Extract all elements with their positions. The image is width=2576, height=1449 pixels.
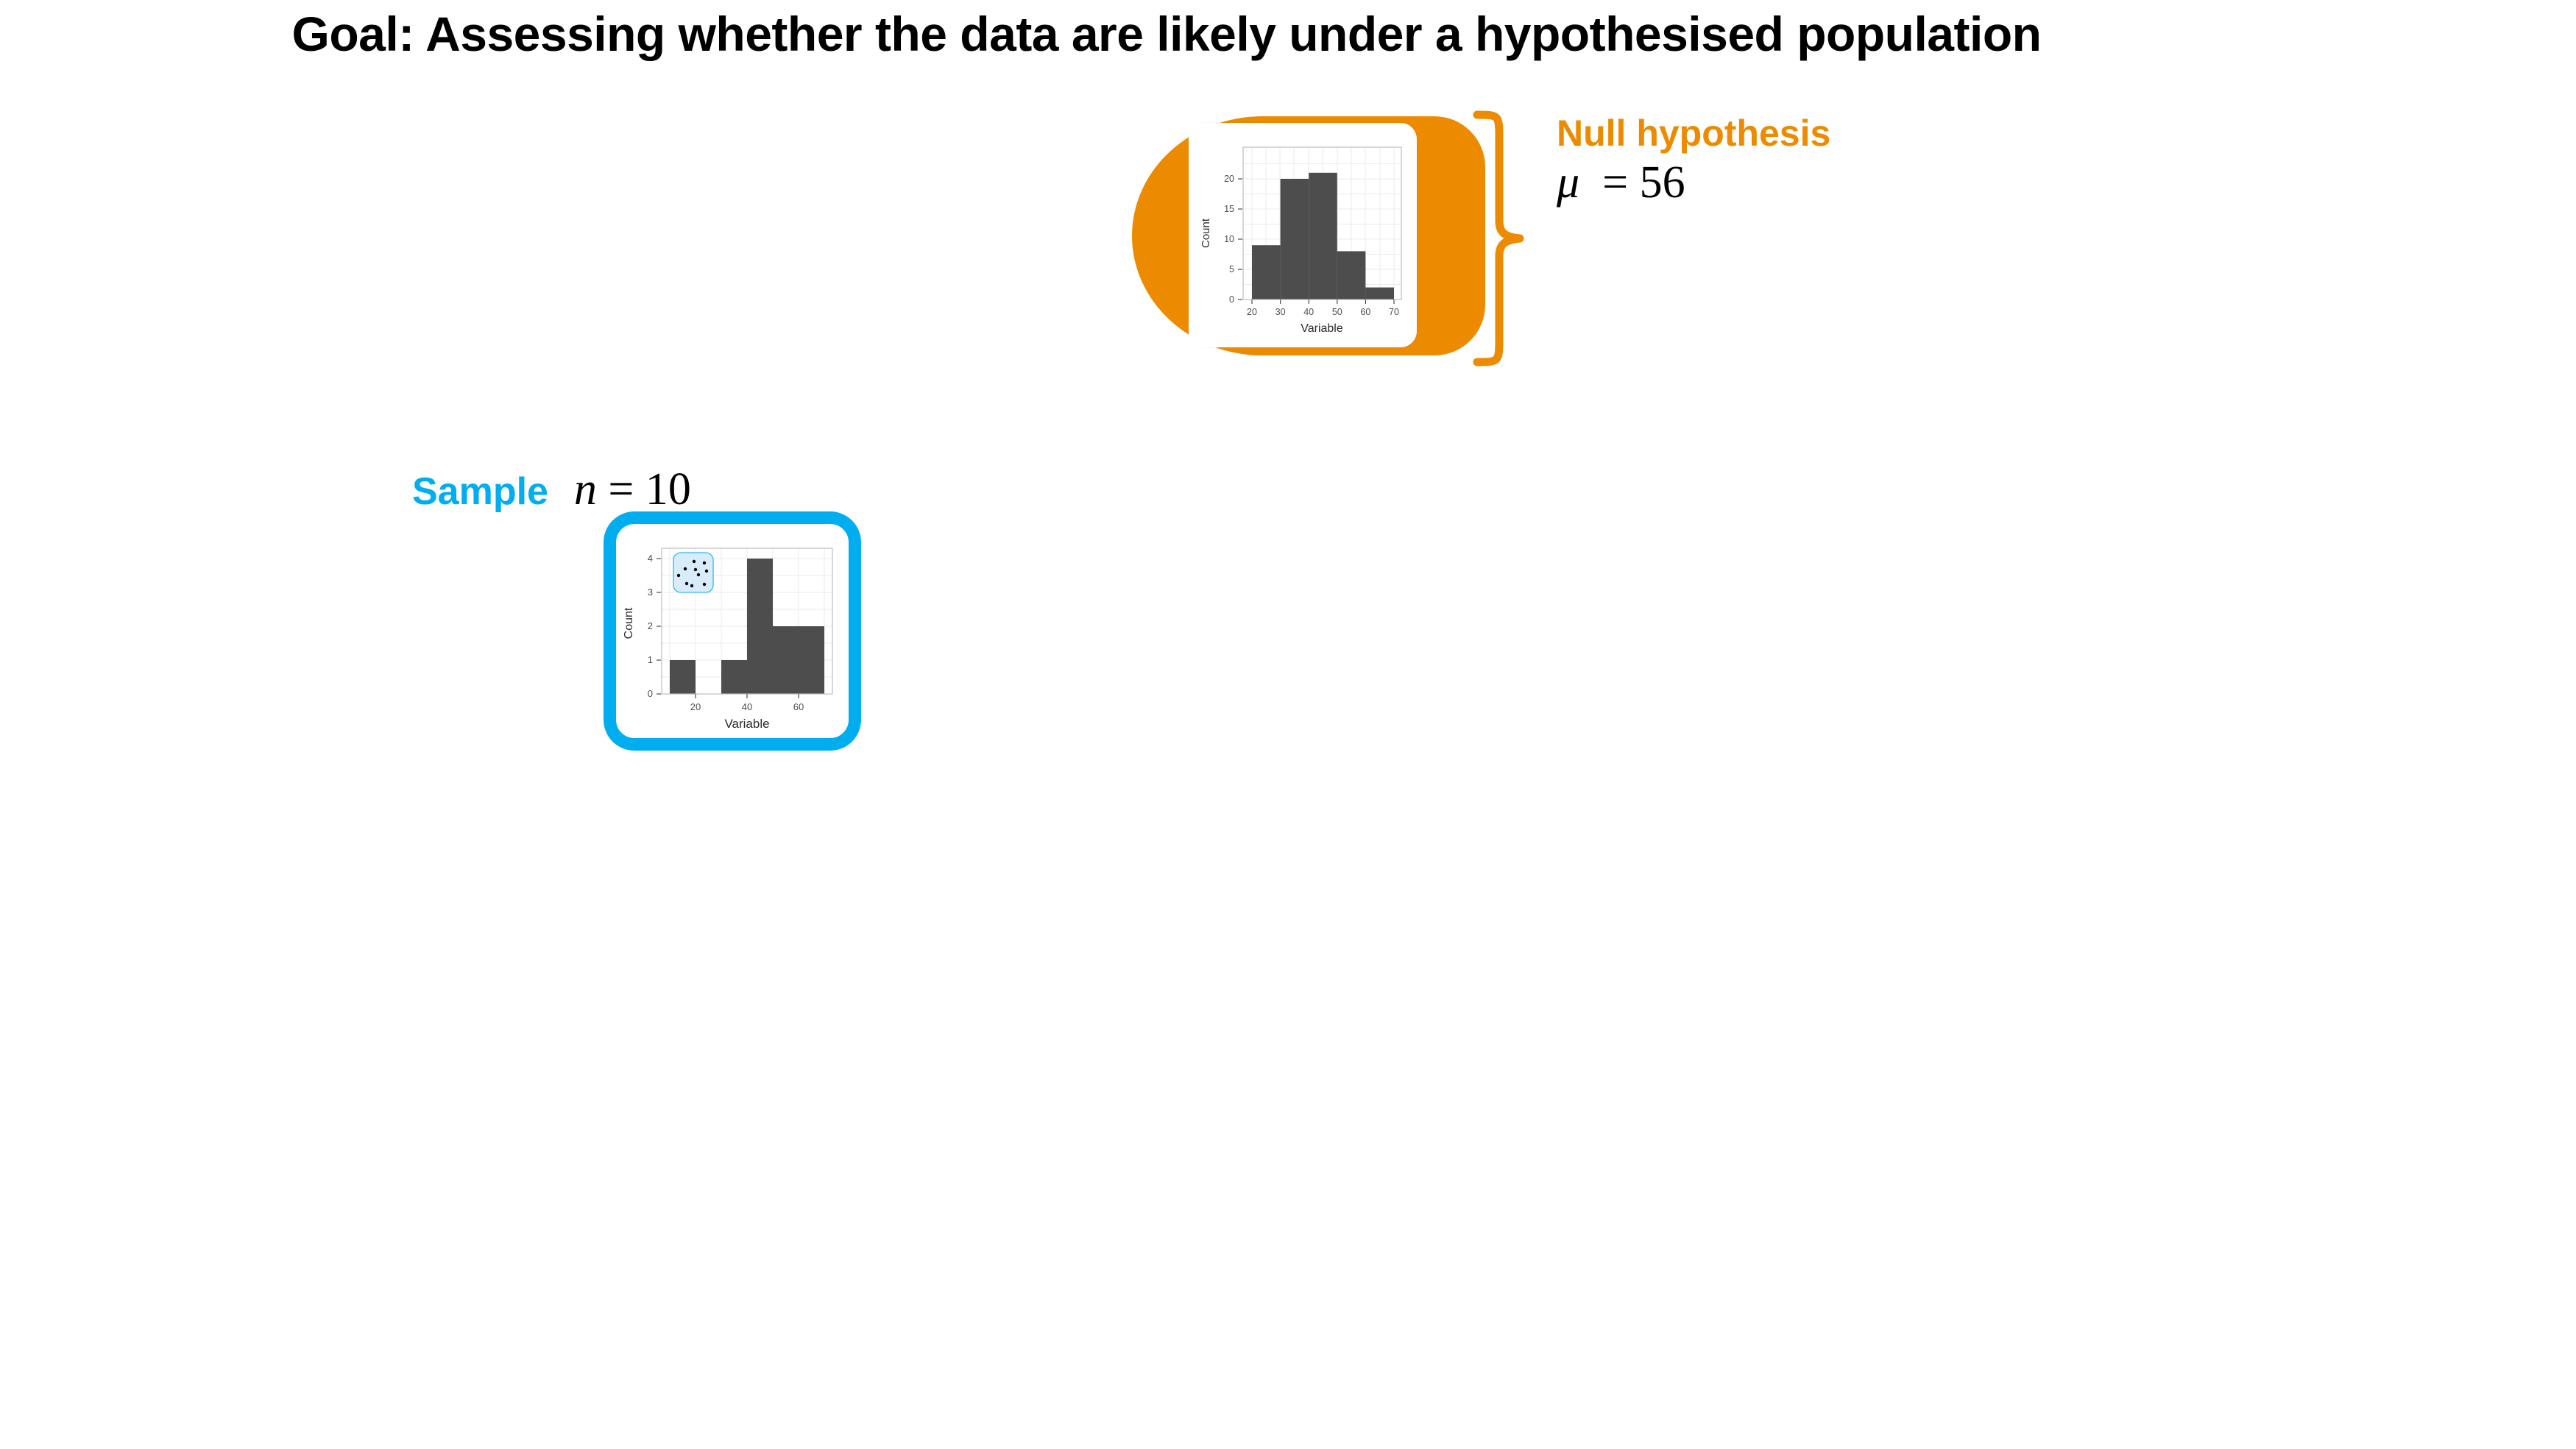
population-bar-60-70 [1365, 288, 1394, 300]
sample-bar-50-60 [773, 626, 799, 694]
null-hypothesis-label: Null hypothesis [1557, 114, 2072, 153]
null-hypothesis-formula: μ = 56 [1557, 159, 2072, 207]
population-y-tickmarks [1238, 179, 1242, 300]
population-bar-30-40 [1281, 179, 1309, 300]
sample-dot [694, 568, 697, 571]
sample-xtick-20: 20 [690, 701, 701, 712]
sample-dot [677, 574, 680, 577]
n-value: 10 [645, 464, 691, 514]
sample-xtick-40: 40 [742, 701, 752, 712]
sample-bar-60-70 [799, 626, 824, 694]
sample-dots-inset [673, 553, 713, 592]
sample-y-axis-title: Count [623, 607, 635, 639]
population-histogram-chart: Count 0 5 10 15 20 [1189, 123, 1417, 347]
sample-ytick-2: 2 [648, 620, 653, 631]
population-bar-40-50 [1309, 173, 1337, 300]
population-xtick-30: 30 [1275, 307, 1286, 317]
population-xtick-20: 20 [1247, 307, 1257, 317]
sample-dot [690, 584, 693, 587]
equals-sign: = [1602, 157, 1628, 208]
sample-ytick-1: 1 [648, 654, 653, 665]
sample-dot [697, 573, 700, 576]
sample-histogram-chart: Count 0 1 2 3 4 [616, 524, 849, 738]
population-xtick-70: 70 [1389, 307, 1399, 317]
sample-xtick-60: 60 [793, 701, 804, 712]
mu-value: 56 [1640, 157, 1685, 208]
sample-dot [684, 567, 687, 570]
sample-chart-card: Count 0 1 2 3 4 [604, 511, 861, 751]
equals-sign: = [608, 464, 634, 514]
population-ytick-0: 0 [1229, 294, 1234, 305]
population-bar-20-30 [1252, 245, 1281, 300]
population-group: Count 0 5 10 15 20 [1126, 110, 1538, 368]
right-curly-brace-icon [1461, 110, 1535, 366]
population-xtick-40: 40 [1303, 307, 1314, 317]
sample-x-axis-title: Variable [724, 717, 769, 731]
sample-bar-30-40 [721, 660, 747, 694]
sample-y-tickmarks [657, 559, 661, 694]
sample-ytick-4: 4 [648, 553, 653, 564]
sample-dot [703, 583, 706, 586]
sample-size-formula: n = 10 [574, 464, 691, 514]
population-ytick-5: 5 [1229, 264, 1234, 274]
population-y-axis-title: Count [1200, 218, 1212, 248]
population-xtick-60: 60 [1360, 307, 1370, 317]
sample-dot [693, 560, 696, 563]
population-bar-50-60 [1337, 251, 1366, 300]
mu-symbol: μ [1557, 157, 1579, 208]
sample-bar-40-50 [747, 559, 773, 694]
population-x-axis-title: Variable [1301, 322, 1343, 335]
population-ytick-20: 20 [1224, 174, 1234, 184]
sample-x-tickmarks [696, 694, 799, 698]
n-symbol: n [574, 464, 597, 514]
sample-bar-10-20 [670, 660, 696, 694]
sample-label: Sample [412, 470, 548, 513]
sample-dot [685, 582, 688, 585]
population-ytick-10: 10 [1224, 234, 1234, 244]
sample-ytick-3: 3 [648, 587, 653, 598]
sample-dot [705, 570, 708, 573]
sample-group: Sample n = 10 Count 0 1 2 3 4 [600, 464, 916, 758]
sample-ytick-0: 0 [648, 688, 653, 699]
population-ytick-15: 15 [1224, 204, 1234, 214]
sample-dot [703, 561, 706, 564]
population-x-tickmarks [1252, 300, 1394, 304]
population-chart-card: Count 0 5 10 15 20 [1189, 123, 1417, 347]
sample-label-row: Sample n = 10 [412, 464, 883, 516]
page-title: Goal: Assessing whether the data are lik… [0, 6, 2333, 62]
null-hypothesis-block: Null hypothesis μ = 56 [1557, 114, 2072, 207]
population-xtick-50: 50 [1332, 307, 1342, 317]
